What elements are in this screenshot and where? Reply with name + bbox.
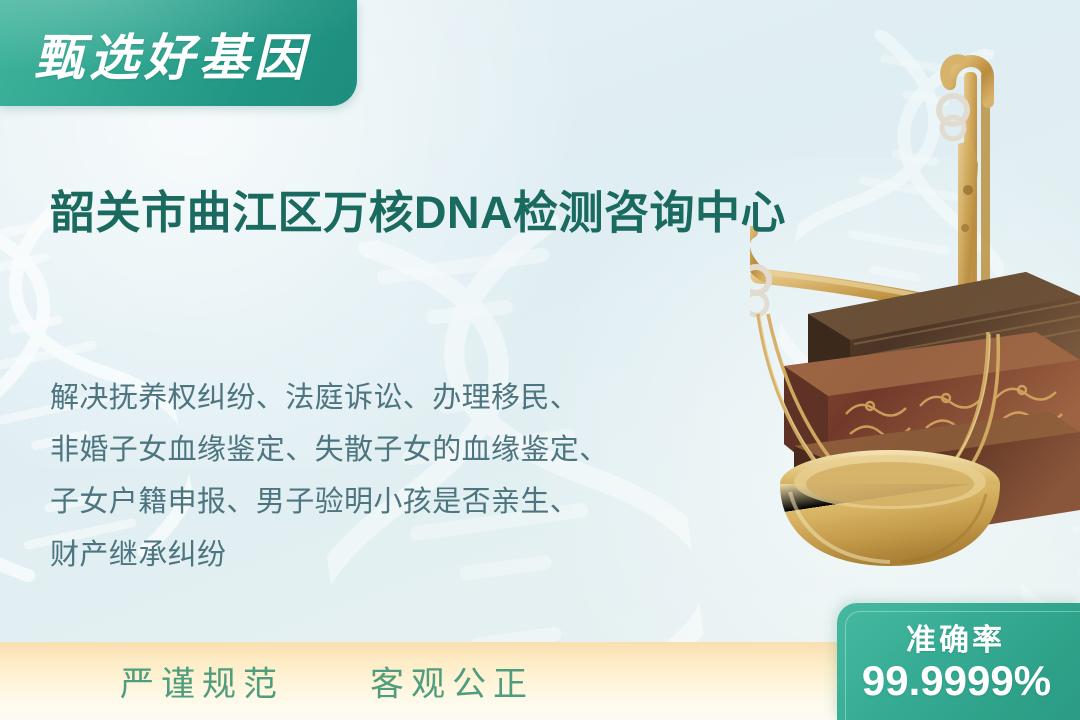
description-line: 财产继承纠纷 [50,529,750,581]
description-line: 解决抚养权纠纷、法庭诉讼、办理移民、 [50,372,750,424]
slogan-list: 严谨规范 客观公正 [120,657,534,706]
promo-banner: 甄选好基因 韶关市曲江区万核DNA检测咨询中心 解决抚养权纠纷、法庭诉讼、办理移… [0,0,1080,720]
page-title: 韶关市曲江区万核DNA检测咨询中心 [50,184,820,243]
slogan-item: 严谨规范 [120,657,284,706]
scale-pan [780,450,1000,566]
dna-helix-icon [996,338,1080,622]
description-line: 子女户籍申报、男子验明小孩是否亲生、 [50,476,750,528]
balance-scale-illustration [750,14,1080,674]
slogan-item: 客观公正 [370,657,534,706]
scale-beam [750,232,996,334]
brand-logo-banner: 甄选好基因 [0,0,357,106]
accuracy-label: 准确率 [837,615,1074,659]
scale-chains [758,314,998,468]
service-description: 解决抚养权纠纷、法庭诉讼、办理移民、 非婚子女血缘鉴定、失散子女的血缘鉴定、 子… [50,372,750,581]
accuracy-value: 99.9999% [837,657,1076,705]
accuracy-badge: 准确率 99.9999% [837,603,1080,720]
antique-books-illustration [784,272,1080,548]
brand-logo-text: 甄选好基因 [34,18,309,90]
description-line: 非婚子女血缘鉴定、失散子女的血缘鉴定、 [50,424,750,476]
scale-post [939,59,990,502]
